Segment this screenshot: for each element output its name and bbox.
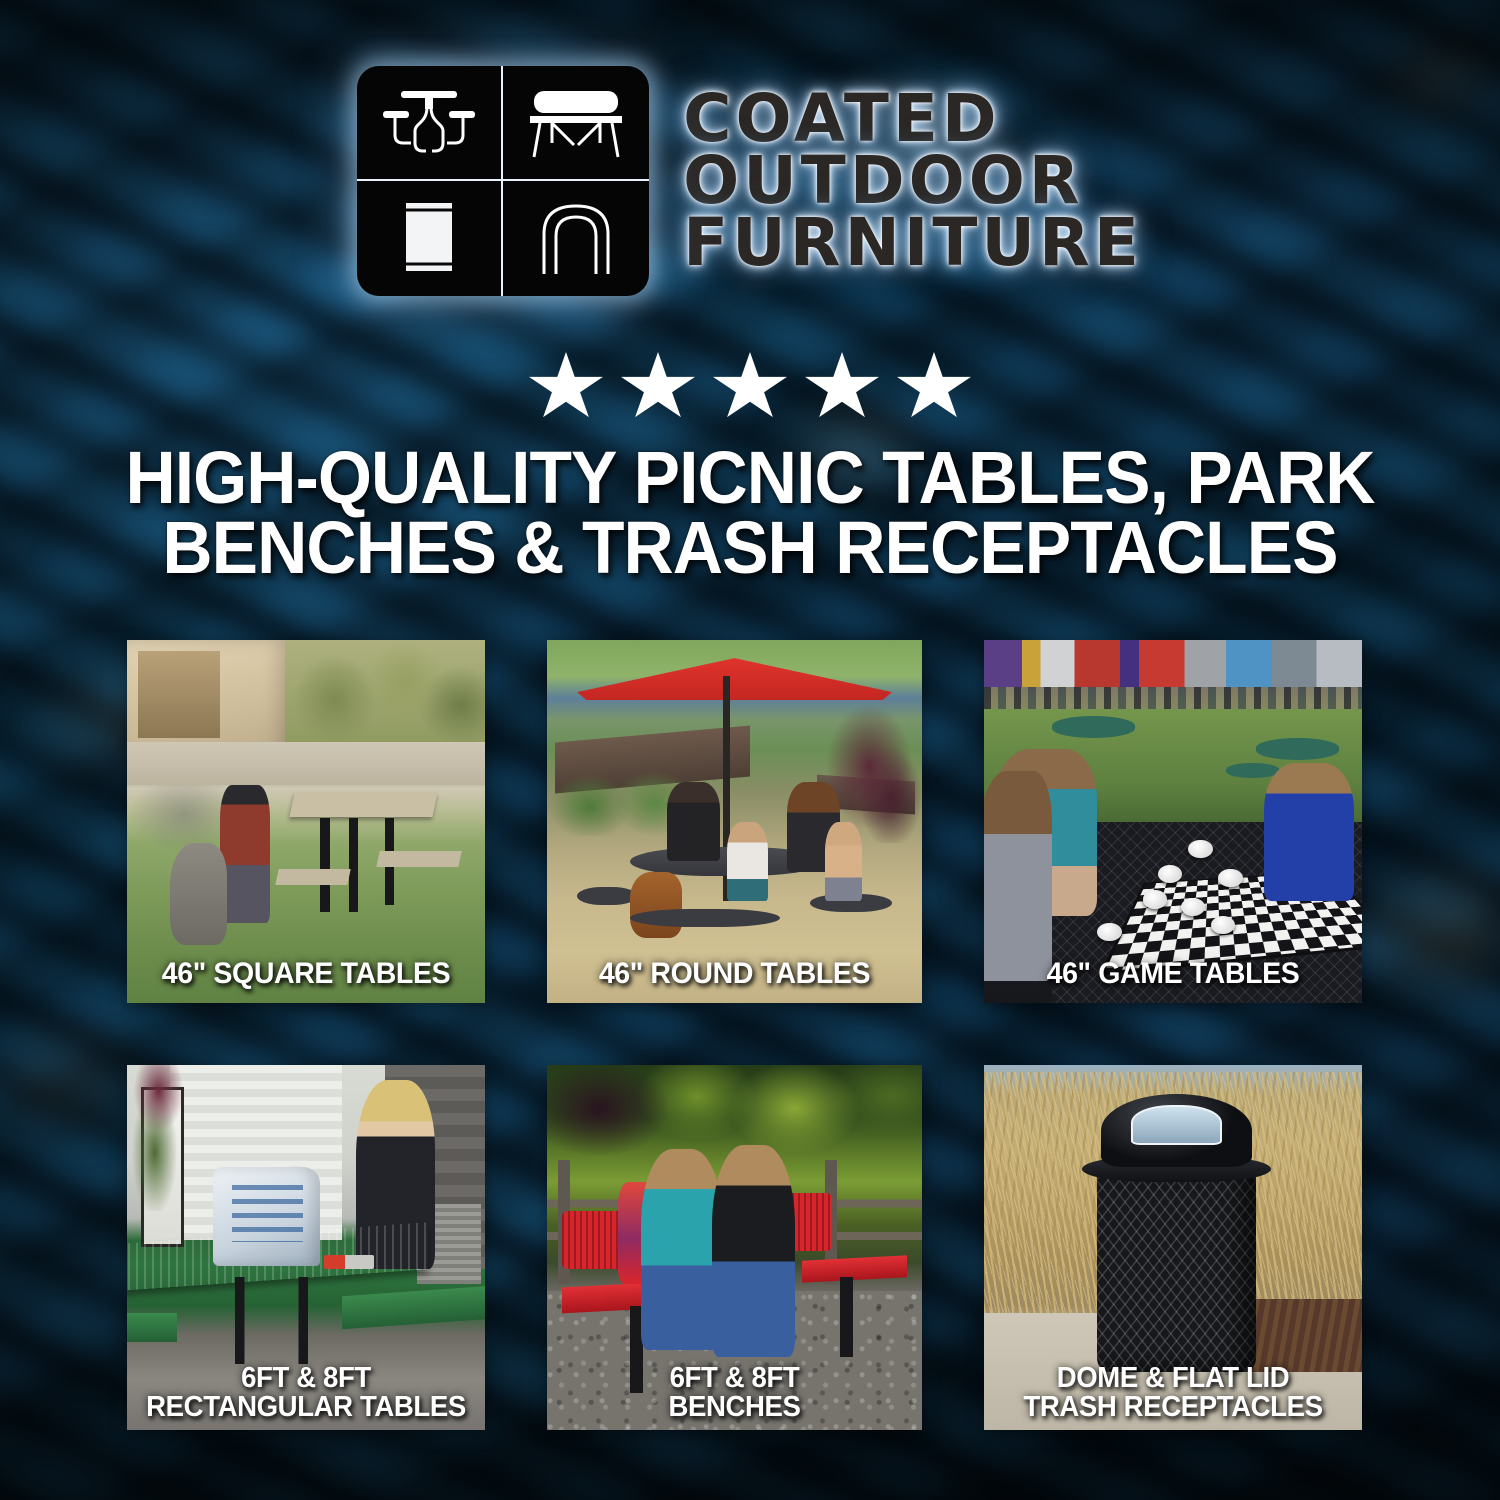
star-icon-3 [713,352,787,422]
headline-line-2: BENCHES & TRASH RECEPTACLES [101,513,1398,583]
product-tile-round-tables[interactable]: 46" ROUND TABLES [547,640,922,1003]
headline: HIGH-QUALITY PICNIC TABLES, PARK BENCHES… [101,443,1398,582]
star-icon-5 [897,352,971,422]
tile-caption: 46" GAME TABLES [997,959,1349,989]
round-tables-photo [547,640,922,1003]
brand-logo-mark [357,66,649,296]
tile-caption: 6FT & 8FT RECTANGULAR TABLES [140,1364,473,1422]
tile-caption: 46" SQUARE TABLES [140,959,473,989]
tile-caption-line-2: RECTANGULAR TABLES [140,1393,473,1422]
tile-caption: DOME & FLAT LID TRASH RECEPTACLES [997,1364,1349,1422]
tile-caption-line-2: BENCHES [560,1393,909,1422]
star-rating [0,352,1500,422]
star-icon-4 [805,352,879,422]
square-tables-photo [127,640,485,1003]
park-bench-icon [503,66,649,181]
star-icon-1 [529,352,603,422]
product-tile-rectangular-tables[interactable]: 6FT & 8FT RECTANGULAR TABLES [127,1065,485,1430]
headline-line-1: HIGH-QUALITY PICNIC TABLES, PARK [101,443,1398,513]
product-tile-benches[interactable]: 6FT & 8FT BENCHES [547,1065,922,1430]
trash-receptacle-icon [357,181,503,296]
brand-line-1: COATED [683,88,1143,150]
logo-icon-grid [357,66,649,296]
product-tile-grid: 46" SQUARE TABLES 46" ROUND TABLES [127,640,1378,1430]
picnic-table-icon [357,66,503,181]
product-tile-game-tables[interactable]: 46" GAME TABLES [984,640,1362,1003]
tile-caption-line-1: 46" ROUND TABLES [560,959,909,989]
brand-line-2: OUTDOOR [683,150,1143,212]
tile-caption: 46" ROUND TABLES [560,959,909,989]
tile-caption: 6FT & 8FT BENCHES [560,1364,909,1422]
tile-caption-line-1: 46" SQUARE TABLES [140,959,473,989]
tile-caption-line-1: 46" GAME TABLES [997,959,1349,989]
tile-caption-line-1: DOME & FLAT LID [997,1364,1349,1393]
product-tile-square-tables[interactable]: 46" SQUARE TABLES [127,640,485,1003]
star-icon-2 [621,352,695,422]
brand-name: COATED OUTDOOR FURNITURE [683,88,1143,274]
arch-bike-rack-icon [503,181,649,296]
tile-caption-line-2: TRASH RECEPTACLES [997,1393,1349,1422]
product-promo-poster: COATED OUTDOOR FURNITURE HIGH-QUALITY PI… [0,0,1500,1500]
brand-logo-row: COATED OUTDOOR FURNITURE [0,66,1500,296]
tile-caption-line-1: 6FT & 8FT [560,1364,909,1393]
brand-line-3: FURNITURE [683,212,1143,274]
game-tables-photo [984,640,1362,1003]
product-tile-trash-receptacles[interactable]: DOME & FLAT LID TRASH RECEPTACLES [984,1065,1362,1430]
tile-caption-line-1: 6FT & 8FT [140,1364,473,1393]
